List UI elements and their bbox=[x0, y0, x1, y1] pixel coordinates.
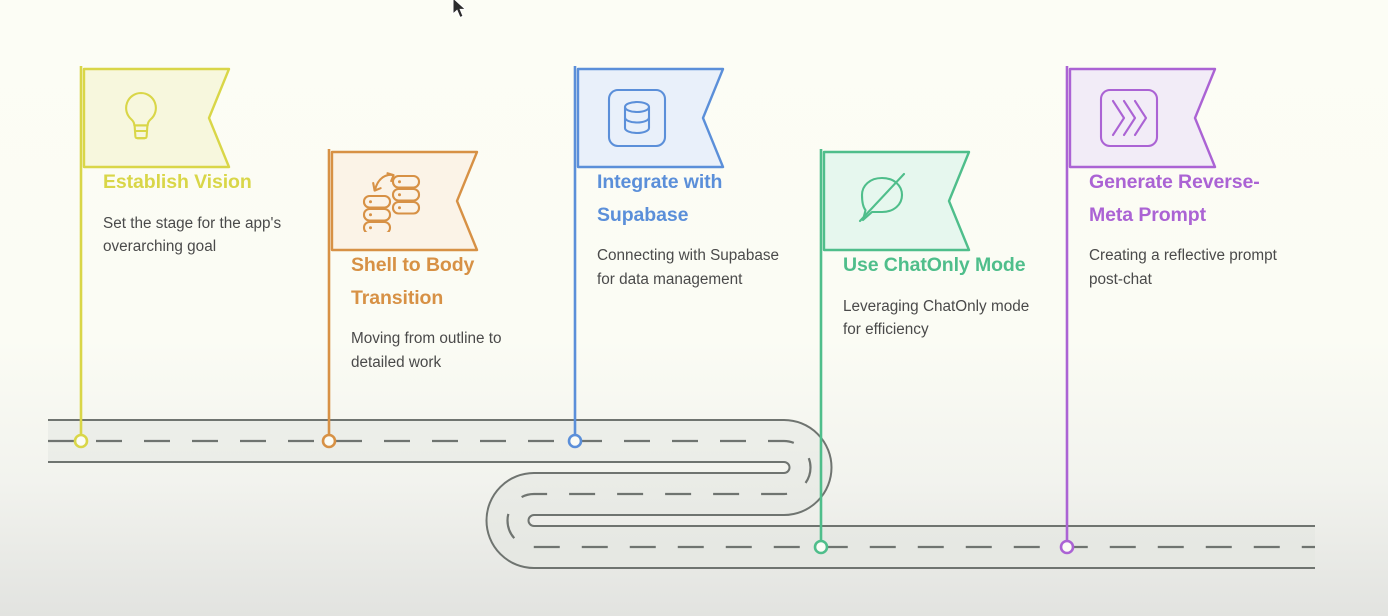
triple-chevron-icon bbox=[1098, 87, 1160, 149]
milestone-title: Use ChatOnly Mode bbox=[821, 249, 1033, 282]
lightbulb-icon bbox=[112, 87, 170, 145]
milestone-description: Connecting with Supabase for data manage… bbox=[575, 244, 787, 292]
milestone-flag bbox=[329, 149, 544, 249]
mouse-pointer-icon bbox=[452, 0, 468, 20]
server-transfer-icon bbox=[360, 170, 424, 232]
milestone-integrate-with-supabase[interactable]: Integrate with SupabaseConnecting with S… bbox=[575, 66, 790, 292]
milestone-icon-lightbulb-icon bbox=[112, 87, 170, 150]
roadmap-diagram: Establish VisionSet the stage for the ap… bbox=[0, 0, 1388, 616]
milestone-description: Creating a reflective prompt post-chat bbox=[1067, 244, 1279, 292]
milestone-marker[interactable] bbox=[1061, 541, 1073, 553]
milestone-use-chatonly-mode[interactable]: Use ChatOnly ModeLeveraging ChatOnly mod… bbox=[821, 149, 1036, 342]
milestone-flag bbox=[1067, 66, 1282, 166]
milestone-description: Moving from outline to detailed work bbox=[329, 327, 541, 375]
milestone-marker[interactable] bbox=[815, 541, 827, 553]
milestone-title: Integrate with Supabase bbox=[575, 166, 787, 231]
milestone-title: Shell to Body Transition bbox=[329, 249, 541, 314]
road-center-dashes bbox=[48, 441, 1315, 547]
milestone-title: Establish Vision bbox=[81, 166, 293, 199]
milestone-icon-database-icon bbox=[606, 87, 668, 154]
database-icon bbox=[606, 87, 668, 149]
chat-off-icon bbox=[852, 170, 912, 228]
road-edge-outer-upper bbox=[48, 420, 1315, 526]
milestone-establish-vision[interactable]: Establish VisionSet the stage for the ap… bbox=[81, 66, 296, 259]
road-edge-outer-lower bbox=[48, 462, 1315, 568]
milestone-flag bbox=[81, 66, 296, 166]
milestone-description: Leveraging ChatOnly mode for efficiency bbox=[821, 295, 1033, 343]
milestone-shell-to-body-transition[interactable]: Shell to Body TransitionMoving from outl… bbox=[329, 149, 544, 375]
milestone-flag bbox=[575, 66, 790, 166]
milestone-flag bbox=[821, 149, 1036, 249]
milestone-marker[interactable] bbox=[75, 435, 87, 447]
milestone-icon-server-transfer-icon bbox=[360, 170, 424, 237]
milestone-generate-reverse-meta-prompt[interactable]: Generate Reverse-Meta PromptCreating a r… bbox=[1067, 66, 1282, 292]
milestone-title: Generate Reverse-Meta Prompt bbox=[1067, 166, 1279, 231]
milestone-marker[interactable] bbox=[323, 435, 335, 447]
road-surface bbox=[48, 441, 1315, 547]
milestone-description: Set the stage for the app's overarching … bbox=[81, 212, 293, 260]
milestone-marker[interactable] bbox=[569, 435, 581, 447]
milestone-icon-triple-chevron-icon bbox=[1098, 87, 1160, 154]
milestone-icon-chat-off-icon bbox=[852, 170, 912, 233]
